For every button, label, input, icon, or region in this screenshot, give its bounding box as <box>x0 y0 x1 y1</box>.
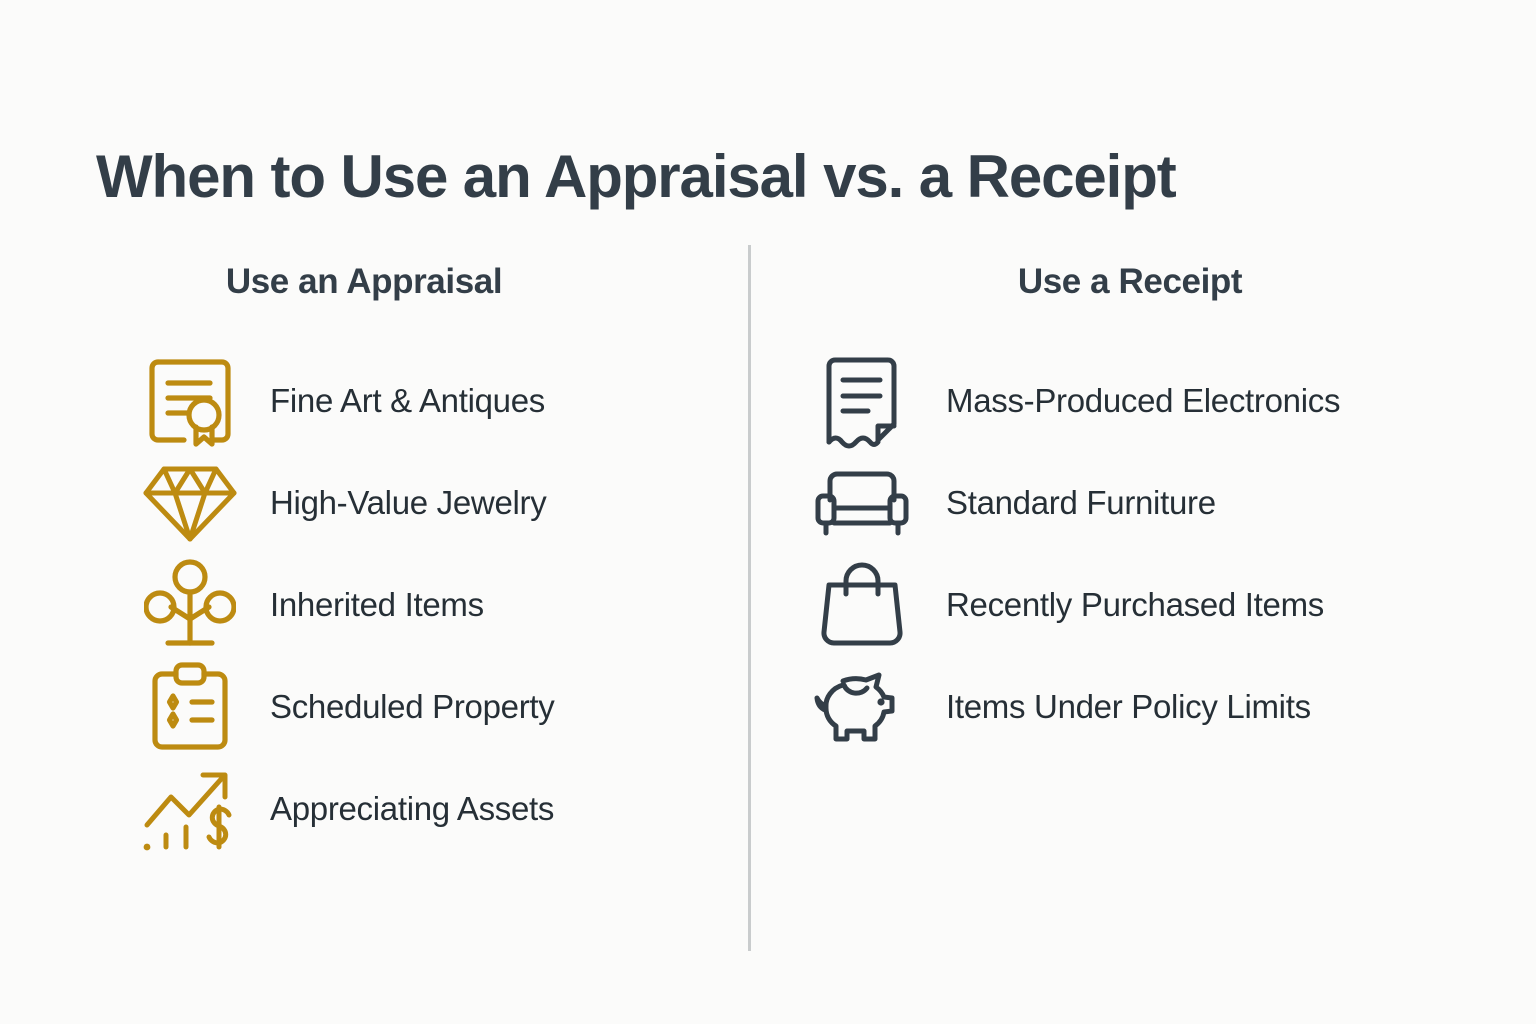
list-item: Scheduled Property <box>60 656 748 758</box>
list-item-label: Recently Purchased Items <box>914 583 1324 627</box>
list-item: Recently Purchased Items <box>810 554 1536 656</box>
list-item: Standard Furniture <box>810 452 1536 554</box>
list-item-label: Inherited Items <box>242 583 484 627</box>
list-item: Items Under Policy Limits <box>810 656 1536 758</box>
certificate-icon <box>138 351 242 451</box>
receipt-item-list: Mass-Produced Electronics <box>810 350 1536 758</box>
list-item: Fine Art & Antiques <box>60 350 748 452</box>
receipt-column-heading: Use a Receipt <box>810 262 1450 302</box>
list-item: High-Value Jewelry <box>60 452 748 554</box>
receipt-icon <box>810 351 914 451</box>
growth-chart-dollar-icon <box>138 759 242 859</box>
list-item: Inherited Items <box>60 554 748 656</box>
list-item-label: Appreciating Assets <box>242 787 554 831</box>
list-item-label: Fine Art & Antiques <box>242 379 545 423</box>
receipt-column: Use a Receipt <box>748 262 1536 860</box>
list-item-label: Scheduled Property <box>242 685 554 729</box>
appraisal-column-heading: Use an Appraisal <box>60 262 748 302</box>
piggy-bank-icon <box>810 657 914 757</box>
sofa-icon <box>810 453 914 553</box>
appraisal-column: Use an Appraisal <box>0 262 748 860</box>
list-item: Mass-Produced Electronics <box>810 350 1536 452</box>
infographic-page: When to Use an Appraisal vs. a Receipt U… <box>0 0 1536 1024</box>
list-item-label: Mass-Produced Electronics <box>914 379 1340 423</box>
list-item-label: Standard Furniture <box>914 481 1216 525</box>
page-title: When to Use an Appraisal vs. a Receipt <box>96 144 1440 210</box>
appraisal-item-list: Fine Art & Antiques <box>60 350 748 860</box>
diamond-icon <box>138 453 242 553</box>
comparison-columns: Use an Appraisal <box>0 262 1536 860</box>
list-item-label: High-Value Jewelry <box>242 481 546 525</box>
shopping-bag-icon <box>810 555 914 655</box>
list-item-label: Items Under Policy Limits <box>914 685 1311 729</box>
family-tree-icon <box>138 555 242 655</box>
list-item: Appreciating Assets <box>60 758 748 860</box>
clipboard-list-icon <box>138 657 242 757</box>
